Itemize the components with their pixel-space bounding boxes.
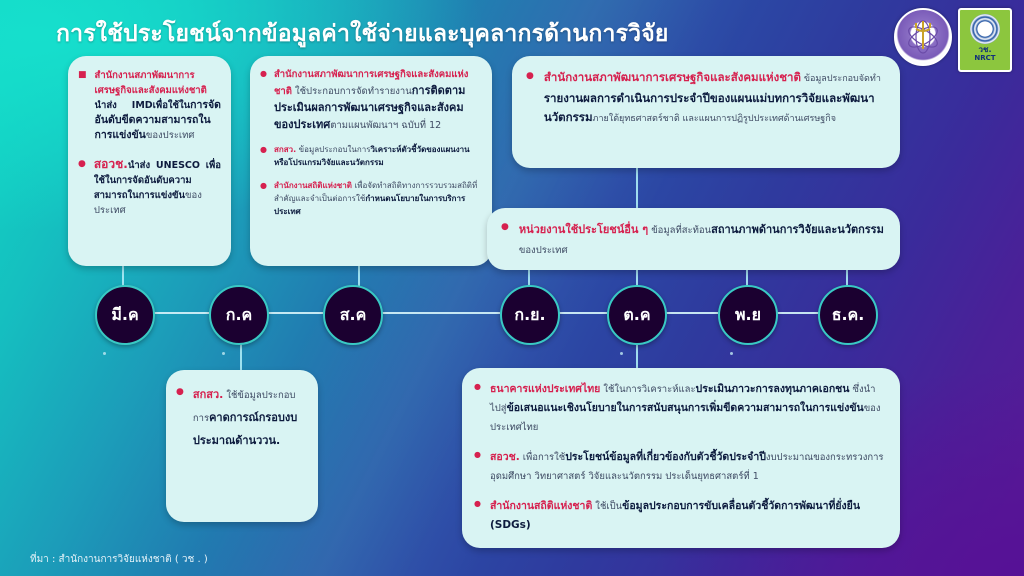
bullet-bold: นำส่ง IMDเพื่อใช้ใน bbox=[95, 100, 191, 111]
bullet-plain: ข้อมูลที่สะท้อน bbox=[648, 225, 711, 236]
bullet-marker-dot: ● bbox=[260, 70, 267, 78]
timeline-node-jul[interactable]: ก.ค bbox=[209, 285, 269, 345]
timeline-node-label: ก.ค bbox=[226, 303, 252, 328]
connector-card1-to-node bbox=[122, 266, 124, 286]
info-card-august[interactable]: ● สำนักงานสภาพัฒนาการเศรษฐกิจและสังคมแห่… bbox=[250, 56, 492, 266]
info-card-september[interactable]: ● สำนักงานสภาพัฒนาการเศรษฐกิจและสังคมแห่… bbox=[512, 56, 900, 168]
bullet-plain2: ของประเทศ bbox=[519, 245, 568, 256]
decor-dot bbox=[103, 352, 106, 355]
bullet-item: ● สกสว. ใช้ข้อมูลประกอบการคาดการณ์กรอบงบ… bbox=[176, 384, 308, 452]
bullet-item: ● สอวช.นำส่ง UNESCO เพื่อใช้ในการจัดอันด… bbox=[78, 157, 221, 218]
timeline-node-aug[interactable]: ส.ค bbox=[323, 285, 383, 345]
bullet-marker-dot: ● bbox=[526, 72, 534, 81]
info-card-other-users[interactable]: ● หน่วยงานใช้ประโยชน์อื่น ๆ ข้อมูลที่สะท… bbox=[487, 208, 900, 270]
timeline-node-label: ส.ค bbox=[340, 303, 367, 328]
bullet-marker-dot: ● bbox=[260, 182, 267, 190]
info-card-october[interactable]: ● ธนาคารแห่งประเทศไทย ใช้ในการวิเคราะห์แ… bbox=[462, 368, 900, 548]
bullet-item: ● หน่วยงานใช้ประโยชน์อื่น ๆ ข้อมูลที่สะท… bbox=[501, 220, 886, 260]
timeline-segment bbox=[151, 312, 209, 314]
dharma-wheel-icon bbox=[970, 14, 1000, 44]
source-caption: ที่มา : สำนักงานการวิจัยแห่งชาติ ( วช . … bbox=[30, 552, 208, 567]
bullet-item: ● สกสว. ข้อมูลประกอบในการวิเคราะห์ตัวชี้… bbox=[260, 143, 480, 169]
decor-dot bbox=[222, 352, 225, 355]
page-title: การใช้ประโยชน์จากข้อมูลค่าใช้จ่ายและบุคล… bbox=[56, 16, 669, 52]
org-name: สำนักงานสถิติแห่งชาติ bbox=[490, 500, 592, 512]
bullet-marker-dot: ● bbox=[176, 388, 184, 397]
timeline-node-nov[interactable]: พ.ย bbox=[718, 285, 778, 345]
org-name: สำนักงานสถิติแห่งชาติ bbox=[274, 181, 352, 190]
timeline-node-label: ธ.ค. bbox=[832, 303, 865, 328]
connector-card3-to-node bbox=[636, 168, 638, 208]
bullet-bold2: ข้อเสนอแนะเชิงนโยบายในการสนับสนุนการเพิ่… bbox=[507, 402, 864, 414]
org-name: สกสว. bbox=[193, 388, 223, 401]
bullet-text: สอวช.นำส่ง UNESCO เพื่อใช้ในการจัดอันดับ… bbox=[94, 157, 221, 218]
timeline-node-label: ต.ค bbox=[623, 303, 650, 328]
bullet-marker-square: ■ bbox=[78, 71, 87, 80]
bullet-item: ● ธนาคารแห่งประเทศไทย ใช้ในการวิเคราะห์แ… bbox=[474, 380, 884, 437]
bullet-text: สำนักงานสภาพัฒนาการเศรษฐกิจและสังคมแห่งช… bbox=[274, 67, 480, 133]
bullet-plain: ข้อมูลประกอบในการ bbox=[296, 145, 370, 154]
bullet-text: สำนักงานสภาพัฒนาการเศรษฐกิจและสังคมแห่งช… bbox=[544, 68, 884, 129]
bullet-bold: ประโยชน์ข้อมูลที่เกี่ยวข้องกับตัวชี้วัดป… bbox=[565, 451, 766, 463]
bullet-marker-dot: ● bbox=[260, 146, 267, 154]
bullet-text: สอวช. เพื่อการใช้ประโยชน์ข้อมูลที่เกี่ยว… bbox=[490, 448, 884, 486]
org-name: สกสว. bbox=[274, 145, 296, 154]
org-name: สอวช. bbox=[94, 157, 128, 171]
timeline-node-label: ก.ย. bbox=[514, 303, 545, 328]
timeline-node-label: มี.ค bbox=[111, 303, 138, 328]
slide-canvas: การใช้ประโยชน์จากข้อมูลค่าใช้จ่ายและบุคล… bbox=[0, 0, 1024, 576]
bullet-item: ● สำนักงานสภาพัฒนาการเศรษฐกิจและสังคมแห่… bbox=[526, 68, 884, 129]
logo-line-en: NRCT bbox=[974, 54, 995, 62]
bullet-item: ● สำนักงานสถิติแห่งชาติ เพื่อจัดทำสถิติท… bbox=[260, 179, 480, 218]
bullet-marker-dot: ● bbox=[474, 383, 481, 391]
org-name: สำนักงานสภาพัฒนาการเศรษฐกิจและสังคมแห่งช… bbox=[544, 70, 801, 84]
bullet-item: ● สำนักงานสถิติแห่งชาติ ใช้เป็นข้อมูลประ… bbox=[474, 497, 884, 534]
org-name: ธนาคารแห่งประเทศไทย bbox=[490, 383, 600, 395]
bullet-text: หน่วยงานใช้ประโยชน์อื่น ๆ ข้อมูลที่สะท้อ… bbox=[519, 220, 886, 260]
bullet-plain: ใช้เป็น bbox=[592, 501, 622, 512]
org-name: สอวช. bbox=[490, 451, 520, 463]
nrct-emblem-logo-icon bbox=[894, 8, 952, 66]
bullet-bold: สถานภาพด้านการวิจัยและนวัตกรรม bbox=[711, 223, 884, 236]
bullet-item: ● สอวช. เพื่อการใช้ประโยชน์ข้อมูลที่เกี่… bbox=[474, 448, 884, 486]
nrct-wordmark-logo: วช. NRCT bbox=[958, 8, 1012, 72]
logo-line-th: วช. bbox=[979, 45, 992, 54]
timeline-node-sep[interactable]: ก.ย. bbox=[500, 285, 560, 345]
bullet-text: สกสว. ข้อมูลประกอบในการวิเคราะห์ตัวชี้วั… bbox=[274, 143, 480, 169]
bullet-plain: ข้อมูลประกอบจัดทำ bbox=[801, 74, 881, 84]
bullet-marker-dot: ● bbox=[78, 160, 86, 169]
timeline-segment bbox=[556, 312, 607, 314]
timeline-node-mar[interactable]: มี.ค bbox=[95, 285, 155, 345]
connector-card2-to-node bbox=[358, 266, 360, 286]
connector-card4-to-node bbox=[746, 270, 748, 286]
bullet-marker-dot: ● bbox=[474, 451, 481, 459]
timeline-node-oct[interactable]: ต.ค bbox=[607, 285, 667, 345]
org-name: หน่วยงานใช้ประโยชน์อื่น ๆ bbox=[519, 223, 648, 236]
timeline-segment bbox=[379, 312, 500, 314]
bullet-bold: คาดการณ์กรอบงบประมาณด้านววน. bbox=[193, 411, 297, 447]
bullet-marker-dot: ● bbox=[501, 223, 509, 232]
connector-node-dec-up bbox=[846, 270, 848, 286]
bullet-item: ■ สำนักงานสภาพัฒนาการเศรษฐกิจและสังคมแห่… bbox=[78, 68, 221, 143]
bullet-marker-dot: ● bbox=[474, 500, 481, 508]
bullet-text: สำนักงานสภาพัฒนาการเศรษฐกิจและสังคมแห่งช… bbox=[95, 68, 221, 143]
bullet-plain: เพื่อการใช้ bbox=[520, 452, 566, 463]
bullet-plain: ใช้ประกอบการจัดทำรายงาน bbox=[292, 86, 412, 97]
bullet-plain: ของประเทศ bbox=[146, 130, 195, 141]
info-card-march[interactable]: ■ สำนักงานสภาพัฒนาการเศรษฐกิจและสังคมแห่… bbox=[68, 56, 231, 266]
atom-trident-icon bbox=[903, 17, 943, 57]
bullet-text: สำนักงานสถิติแห่งชาติ ใช้เป็นข้อมูลประกอ… bbox=[490, 497, 884, 534]
org-name: สำนักงานสภาพัฒนาการเศรษฐกิจและสังคมแห่งช… bbox=[95, 70, 207, 96]
timeline-segment bbox=[774, 312, 819, 314]
bullet-text: สำนักงานสถิติแห่งชาติ เพื่อจัดทำสถิติทาง… bbox=[274, 179, 480, 218]
info-card-july[interactable]: ● สกสว. ใช้ข้อมูลประกอบการคาดการณ์กรอบงบ… bbox=[166, 370, 318, 522]
timeline-node-label: พ.ย bbox=[735, 303, 761, 328]
timeline-node-dec[interactable]: ธ.ค. bbox=[818, 285, 878, 345]
bullet-text: สกสว. ใช้ข้อมูลประกอบการคาดการณ์กรอบงบปร… bbox=[193, 384, 308, 452]
timeline-segment bbox=[663, 312, 718, 314]
decor-dot bbox=[730, 352, 733, 355]
bullet-plain2: ตามแผนพัฒนาฯ ฉบับที่ 12 bbox=[330, 120, 441, 131]
bullet-plain: ใช้ในการวิเคราะห์และ bbox=[600, 384, 695, 395]
bullet-item: ● สำนักงานสภาพัฒนาการเศรษฐกิจและสังคมแห่… bbox=[260, 67, 480, 133]
bullet-text: ธนาคารแห่งประเทศไทย ใช้ในการวิเคราะห์และ… bbox=[490, 380, 884, 437]
connector-card4-node-left bbox=[636, 270, 638, 286]
bullet-bold: ประเมินภาวะการลงทุนภาคเอกชน bbox=[696, 383, 850, 395]
timeline-segment bbox=[265, 312, 323, 314]
decor-dot bbox=[620, 352, 623, 355]
bullet-plain2: ภายใต้ยุทธศาสตร์ชาติ และแผนการปฏิรูปประเ… bbox=[593, 114, 836, 124]
